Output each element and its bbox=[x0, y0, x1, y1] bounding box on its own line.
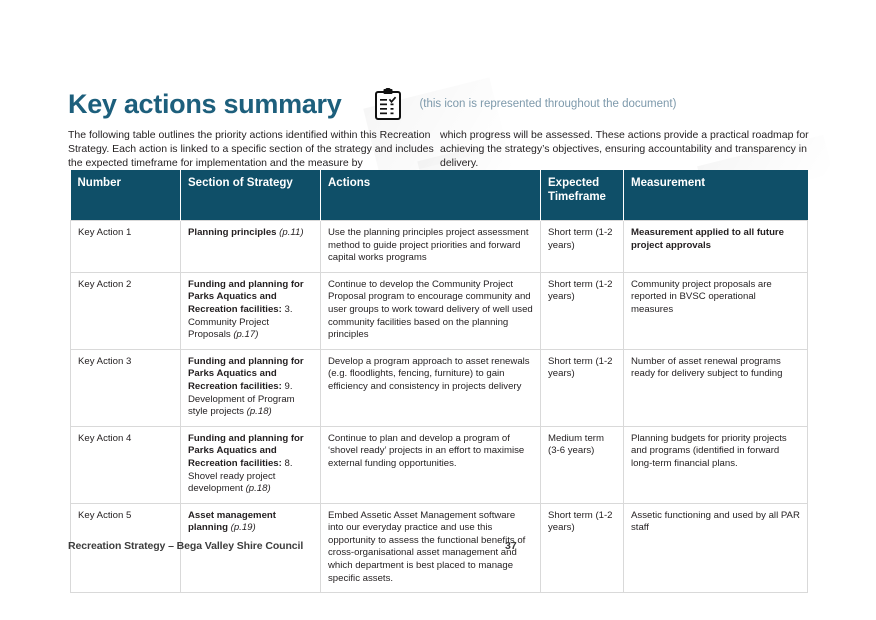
column-header-expected-timeframe: Expected Timeframe bbox=[541, 170, 624, 221]
clipboard-checklist-icon bbox=[375, 88, 401, 120]
section-title: Planning principles bbox=[188, 227, 277, 238]
section-page-ref: (p.17) bbox=[233, 329, 258, 340]
cell-measurement: Measurement applied to all future projec… bbox=[624, 221, 808, 273]
cell-actions: Continue to plan and develop a program o… bbox=[321, 426, 541, 503]
table-header: Number Section of Strategy Actions Expec… bbox=[71, 170, 808, 221]
section-page-ref: (p.18) bbox=[247, 406, 272, 417]
table-body: Key Action 1 Planning principles (p.11) … bbox=[71, 221, 808, 593]
intro-column-left: The following table outlines the priorit… bbox=[68, 128, 440, 171]
cell-measurement: Number of asset renewal programs ready f… bbox=[624, 349, 808, 426]
title-row: Key actions summary (this icon is repres… bbox=[68, 84, 813, 124]
cell-actions: Continue to develop the Community Projec… bbox=[321, 272, 541, 349]
intro-text-left: The following table outlines the priorit… bbox=[68, 128, 440, 171]
cell-actions: Use the planning principles project asse… bbox=[321, 221, 541, 273]
cell-timeframe: Medium term (3-6 years) bbox=[541, 426, 624, 503]
page-footer: Recreation Strategy – Bega Valley Shire … bbox=[68, 540, 813, 556]
section-page-ref: (p.19) bbox=[231, 522, 256, 533]
column-header-number: Number bbox=[71, 170, 181, 221]
cell-section: Funding and planning for Parks Aquatics … bbox=[181, 426, 321, 503]
cell-measurement: Community project proposals are reported… bbox=[624, 272, 808, 349]
intro-text-right: which progress will be assessed. These a… bbox=[440, 128, 812, 171]
section-page-ref: (p.11) bbox=[279, 227, 303, 238]
cell-number: Key Action 4 bbox=[71, 426, 181, 503]
footer-document-title: Recreation Strategy – Bega Valley Shire … bbox=[68, 540, 303, 552]
column-header-section-of-strategy: Section of Strategy bbox=[181, 170, 321, 221]
column-header-actions: Actions bbox=[321, 170, 541, 221]
intro-paragraphs: The following table outlines the priorit… bbox=[68, 128, 813, 171]
cell-timeframe: Short term (1-2 years) bbox=[541, 221, 624, 273]
footer-page-number: 37 bbox=[505, 540, 517, 552]
column-header-measurement: Measurement bbox=[624, 170, 808, 221]
intro-column-right: which progress will be assessed. These a… bbox=[440, 128, 812, 171]
table-header-row: Number Section of Strategy Actions Expec… bbox=[71, 170, 808, 221]
cell-number: Key Action 1 bbox=[71, 221, 181, 273]
cell-number: Key Action 2 bbox=[71, 272, 181, 349]
cell-measurement: Planning budgets for priority projects a… bbox=[624, 426, 808, 503]
cell-timeframe: Short term (1-2 years) bbox=[541, 349, 624, 426]
section-page-ref: (p.18) bbox=[246, 483, 271, 494]
cell-timeframe: Short term (1-2 years) bbox=[541, 272, 624, 349]
table-row: Key Action 1 Planning principles (p.11) … bbox=[71, 221, 808, 273]
table-row: Key Action 2 Funding and planning for Pa… bbox=[71, 272, 808, 349]
cell-section: Funding and planning for Parks Aquatics … bbox=[181, 349, 321, 426]
cell-section: Funding and planning for Parks Aquatics … bbox=[181, 272, 321, 349]
key-actions-table: Number Section of Strategy Actions Expec… bbox=[70, 170, 808, 593]
table-row: Key Action 3 Funding and planning for Pa… bbox=[71, 349, 808, 426]
page-title: Key actions summary bbox=[68, 91, 341, 118]
cell-number: Key Action 3 bbox=[71, 349, 181, 426]
cell-actions: Develop a program approach to asset rene… bbox=[321, 349, 541, 426]
document-page: Key actions summary (this icon is repres… bbox=[0, 0, 876, 620]
cell-section: Planning principles (p.11) bbox=[181, 221, 321, 273]
table-row: Key Action 4 Funding and planning for Pa… bbox=[71, 426, 808, 503]
icon-note: (this icon is represented throughout the… bbox=[419, 98, 676, 110]
